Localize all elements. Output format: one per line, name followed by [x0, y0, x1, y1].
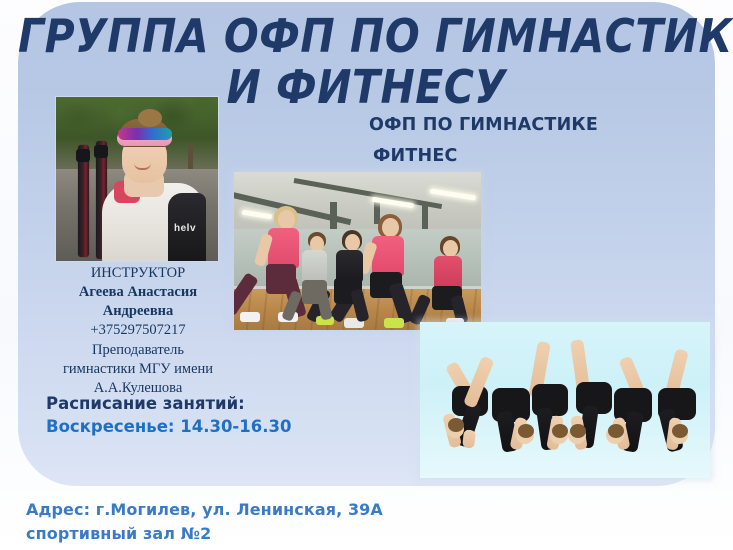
ski-binding — [94, 145, 108, 158]
instructor-credentials-line-2: гимнастики МГУ имени — [36, 360, 240, 379]
hair — [552, 424, 568, 438]
instructor-name-line-1: Агеева Анастасия — [36, 283, 240, 302]
head — [382, 218, 399, 237]
instructor-details: ИНСТРУКТОР Агеева Анастасия Андреевна +3… — [36, 264, 240, 398]
ski-binding — [76, 149, 90, 162]
pink-tank-top — [268, 228, 299, 268]
schedule-title: Расписание занятий: — [46, 392, 296, 415]
footer-venue: спортивный зал №2 — [26, 522, 626, 546]
sunglasses-icon — [118, 128, 172, 140]
footer-address: Адрес: г.Могилев, ул. Ленинская, 39А — [26, 498, 626, 522]
tree-trunk — [188, 143, 193, 169]
shoe — [384, 318, 404, 328]
head — [443, 240, 458, 257]
instructor-name-line-2: Андреевна — [36, 302, 240, 321]
footer-contact: Адрес: г.Могилев, ул. Ленинская, 39А спо… — [26, 498, 626, 546]
shoe — [240, 312, 260, 322]
fitness-class-photo — [234, 172, 481, 330]
sleeve-brand-text: helv — [174, 223, 196, 234]
schedule-time: Воскресенье: 14.30-16.30 — [46, 415, 296, 438]
gymnasts-photo — [420, 322, 710, 478]
schedule-block: Расписание занятий: Воскресенье: 14.30-1… — [46, 392, 296, 439]
lower-leg — [462, 429, 476, 448]
poster-canvas: ГРУППА ОФП ПО ГИМНАСТИКЕ И ФИТНЕСУ helv — [0, 0, 733, 550]
hair-bun — [138, 109, 162, 127]
head — [345, 234, 360, 251]
hair — [448, 418, 464, 432]
hair — [608, 424, 624, 438]
pink-tank-top — [372, 236, 404, 276]
portrait-scene: helv — [56, 97, 218, 261]
hair — [672, 424, 688, 438]
ceiling-post — [422, 202, 428, 230]
hair — [518, 424, 534, 438]
program-heading-2: ФИТНЕС — [369, 141, 598, 172]
head — [278, 210, 295, 229]
instructor-credentials-line-1: Преподаватель — [36, 341, 240, 360]
program-heading-1: ОФП ПО ГИМНАСТИКЕ — [369, 110, 598, 141]
instructor-portrait-photo: helv — [55, 96, 219, 262]
instructor-role: ИНСТРУКТОР — [36, 264, 240, 283]
red-tank-top — [434, 256, 462, 290]
instructor-phone[interactable]: +375297507217 — [36, 321, 240, 340]
program-headings: ОФП ПО ГИМНАСТИКЕ ФИТНЕС — [369, 110, 598, 171]
grey-shirt — [302, 250, 327, 284]
hair — [570, 424, 586, 438]
